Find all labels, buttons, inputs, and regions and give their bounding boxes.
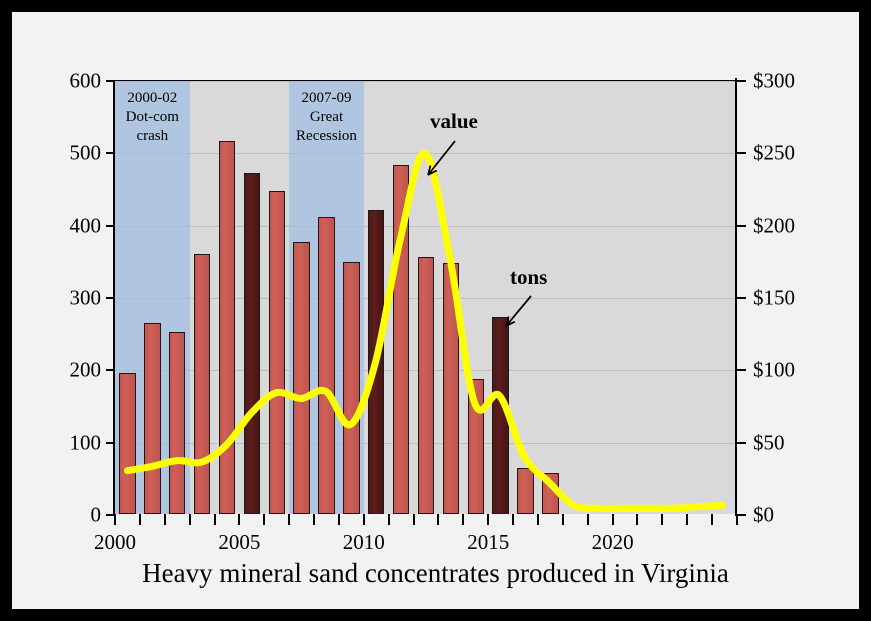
secondary-y-tick: [737, 369, 746, 371]
y-tick-label: 600: [70, 69, 102, 94]
secondary-y-tick-label: $100: [753, 358, 795, 383]
secondary-y-tick: [737, 442, 746, 444]
x-tick: [214, 514, 216, 525]
secondary-y-tick-label: $250: [753, 141, 795, 166]
x-tick: [562, 514, 564, 525]
x-tick: [114, 514, 116, 525]
right-axis-spine: [735, 78, 737, 516]
y-tick: [106, 369, 115, 371]
x-tick: [139, 514, 141, 525]
secondary-y-tick-label: $200: [753, 213, 795, 238]
secondary-y-tick-label: $300: [753, 69, 795, 94]
y-tick-label: 500: [70, 141, 102, 166]
secondary-y-tick: [737, 297, 746, 299]
y-tick-label: 400: [70, 213, 102, 238]
x-tick: [363, 514, 365, 525]
x-tick: [686, 514, 688, 525]
secondary-y-tick-label: $0: [753, 503, 774, 528]
x-tick: [189, 514, 191, 525]
x-tick: [711, 514, 713, 525]
x-tick-label: 2015: [467, 530, 509, 555]
chart-caption: Heavy mineral sand concentrates produced…: [12, 558, 859, 589]
plot-area: 2000-02Dot-comcrash2007-09GreatRecession…: [113, 80, 735, 514]
x-tick: [313, 514, 315, 525]
y-tick: [106, 80, 115, 82]
x-tick: [661, 514, 663, 525]
x-tick-label: 2000: [94, 530, 136, 555]
y-tick-label: 0: [91, 503, 102, 528]
x-tick-label: 2010: [343, 530, 385, 555]
y-tick: [106, 225, 115, 227]
y-tick-label: 200: [70, 358, 102, 383]
x-tick-label: 2005: [218, 530, 260, 555]
secondary-y-tick: [737, 80, 746, 82]
figure-canvas: Production (thousand short tons) Estimat…: [12, 12, 859, 609]
x-tick: [413, 514, 415, 525]
secondary-y-tick: [737, 152, 746, 154]
x-tick: [338, 514, 340, 525]
x-tick: [612, 514, 614, 525]
annotation-arrow-tons: [115, 81, 737, 515]
secondary-y-tick-label: $150: [753, 286, 795, 311]
x-tick: [487, 514, 489, 525]
x-tick: [164, 514, 166, 525]
secondary-y-tick-label: $50: [753, 430, 785, 455]
figure-frame: Production (thousand short tons) Estimat…: [0, 0, 871, 621]
secondary-y-tick: [737, 514, 746, 516]
y-tick-label: 100: [70, 430, 102, 455]
secondary-y-tick: [737, 225, 746, 227]
y-tick-label: 300: [70, 286, 102, 311]
y-tick: [106, 297, 115, 299]
x-tick: [238, 514, 240, 525]
x-tick: [437, 514, 439, 525]
x-tick-label: 2020: [592, 530, 634, 555]
x-tick: [587, 514, 589, 525]
x-tick: [462, 514, 464, 525]
x-tick: [388, 514, 390, 525]
x-tick: [512, 514, 514, 525]
y-tick: [106, 152, 115, 154]
x-tick: [537, 514, 539, 525]
x-tick: [288, 514, 290, 525]
x-tick: [636, 514, 638, 525]
y-tick: [106, 442, 115, 444]
x-tick: [263, 514, 265, 525]
